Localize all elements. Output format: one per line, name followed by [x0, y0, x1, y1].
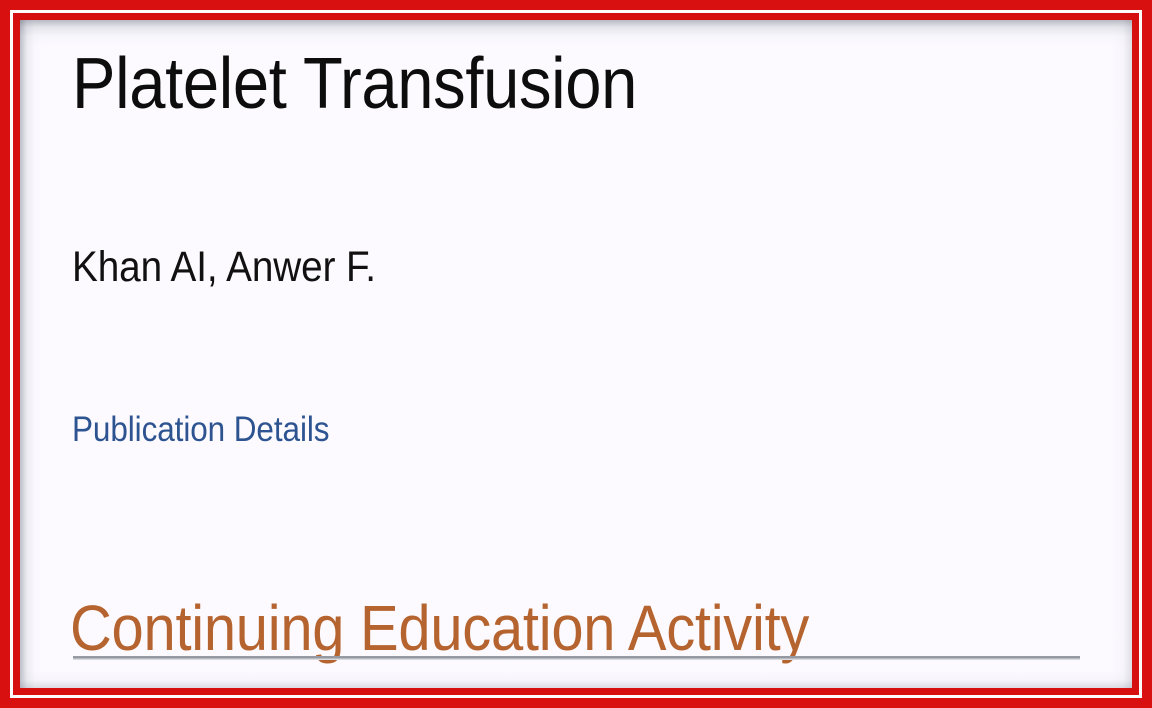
document-content: Platelet Transfusion Khan AI, Anwer F. P… [20, 20, 1132, 688]
section-heading-continuing-education-activity: Continuing Education Activity [70, 592, 809, 666]
page-title: Platelet Transfusion [72, 42, 637, 127]
screenshot-root: Platelet Transfusion Khan AI, Anwer F. P… [0, 0, 1152, 708]
section-divider [73, 656, 1080, 660]
document-card: Platelet Transfusion Khan AI, Anwer F. P… [20, 20, 1132, 688]
author-list: Khan AI, Anwer F. [72, 242, 376, 294]
publication-details-link[interactable]: Publication Details [72, 409, 329, 451]
